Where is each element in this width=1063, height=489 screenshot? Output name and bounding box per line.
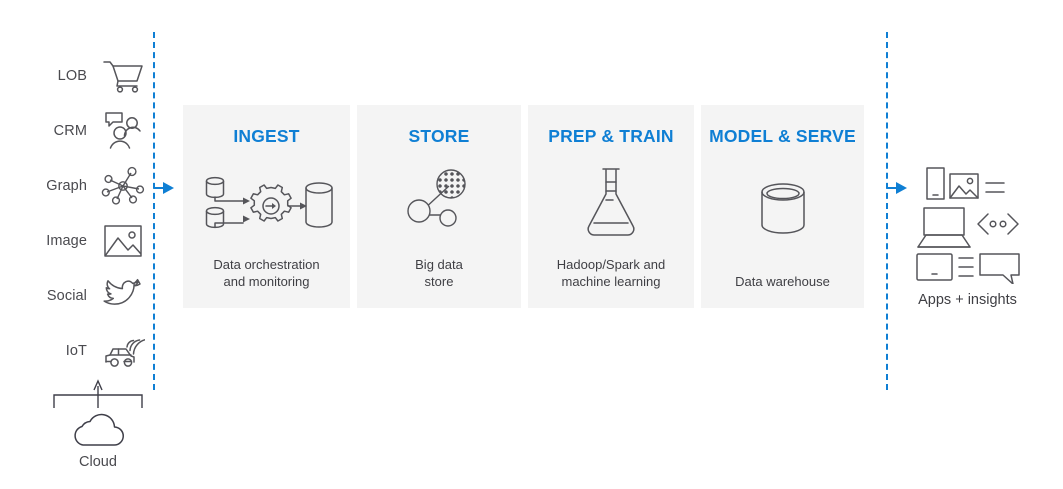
outputs-icon-grid: [914, 166, 1022, 284]
source-label: CRM: [54, 123, 87, 139]
flow-arrow-in-icon: [154, 181, 176, 195]
pipeline-boundary-right: [886, 32, 890, 390]
source-item-lob: LOB: [30, 48, 145, 103]
stage-card-ingest[interactable]: INGEST: [183, 105, 350, 308]
speech-bubble-icon: [980, 254, 1019, 284]
tablet-icon: [917, 254, 952, 280]
database-cylinder-icon: [701, 147, 864, 274]
source-item-social: Social: [30, 268, 145, 323]
cloud-connector-bracket: [50, 378, 146, 410]
big-data-store-icon: [357, 147, 521, 257]
cloud-icon: [68, 412, 128, 450]
stage-card-model-serve[interactable]: MODEL & SERVE Data warehouse: [701, 105, 864, 308]
phone-icon: [927, 168, 944, 199]
source-item-iot: IoT: [30, 323, 145, 378]
source-label: Image: [46, 233, 87, 249]
text-lines-icon: [959, 258, 973, 276]
cloud-label: Cloud: [38, 454, 158, 470]
stage-title: STORE: [409, 126, 470, 147]
stage-title: MODEL & SERVE: [709, 126, 856, 147]
stage-caption: Hadoop/Spark and machine learning: [549, 257, 673, 308]
pipeline-boundary-left: [153, 32, 157, 390]
source-item-image: Image: [30, 213, 145, 268]
connected-car-icon: [101, 330, 145, 372]
code-brackets-icon: [978, 214, 1018, 234]
apps-insights-group: Apps + insights: [905, 166, 1030, 308]
stage-title: PREP & TRAIN: [548, 126, 674, 147]
stage-caption: Data orchestration and monitoring: [205, 257, 327, 308]
apps-insights-label: Apps + insights: [905, 292, 1030, 308]
data-orchestration-icon: [183, 147, 350, 257]
source-item-graph: Graph: [30, 158, 145, 213]
cloud-group: Cloud: [38, 378, 158, 470]
stage-card-store[interactable]: STORE Big data store: [357, 105, 521, 308]
stage-caption: Data warehouse: [727, 274, 838, 309]
stage-card-prep-train[interactable]: PREP & TRAIN Hadoop/Spark and machine le…: [528, 105, 694, 308]
source-label: IoT: [66, 343, 87, 359]
source-item-crm: CRM: [30, 103, 145, 158]
picture-icon: [101, 220, 145, 262]
stage-title: INGEST: [233, 126, 299, 147]
diagram-canvas: LOB CRM: [0, 0, 1063, 489]
source-label: Social: [47, 288, 87, 304]
stage-caption: Big data store: [407, 257, 471, 308]
data-sources-column: LOB CRM: [30, 48, 145, 378]
laptop-icon: [918, 208, 970, 247]
flask-icon: [528, 147, 694, 257]
text-lines-icon: [986, 183, 1004, 192]
pipeline-stages: INGEST: [183, 105, 864, 308]
source-label: Graph: [46, 178, 87, 194]
shopping-cart-icon: [101, 55, 145, 97]
picture-icon: [950, 174, 978, 198]
people-chat-icon: [101, 110, 145, 152]
bird-icon: [101, 275, 145, 317]
network-graph-icon: [101, 165, 145, 207]
source-label: LOB: [58, 68, 87, 84]
